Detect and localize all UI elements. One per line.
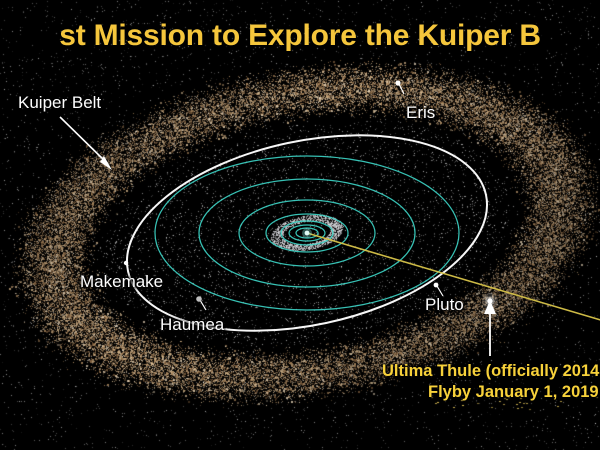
annotation-flyby-date: Flyby January 1, 2019 — [428, 383, 599, 402]
label-pluto: Pluto — [425, 295, 464, 315]
haumea-marker — [196, 296, 206, 310]
label-kuiper-belt: Kuiper Belt — [18, 93, 101, 113]
ultima-thule-marker — [482, 293, 498, 309]
label-makemake: Makemake — [80, 272, 163, 292]
kuiper-belt-illustration: st Mission to Explore the Kuiper B Kuipe… — [0, 0, 600, 450]
page-title: st Mission to Explore the Kuiper B — [0, 19, 600, 53]
makemake-marker — [124, 261, 128, 265]
label-haumea: Haumea — [160, 315, 224, 335]
label-eris: Eris — [406, 103, 435, 123]
pluto-marker — [434, 283, 443, 296]
sun-marker — [302, 228, 312, 238]
annotation-ultima-thule: Ultima Thule (officially 2014 — [382, 362, 599, 381]
eris-marker — [395, 80, 404, 94]
kuiper-belt-arrow — [60, 117, 112, 170]
